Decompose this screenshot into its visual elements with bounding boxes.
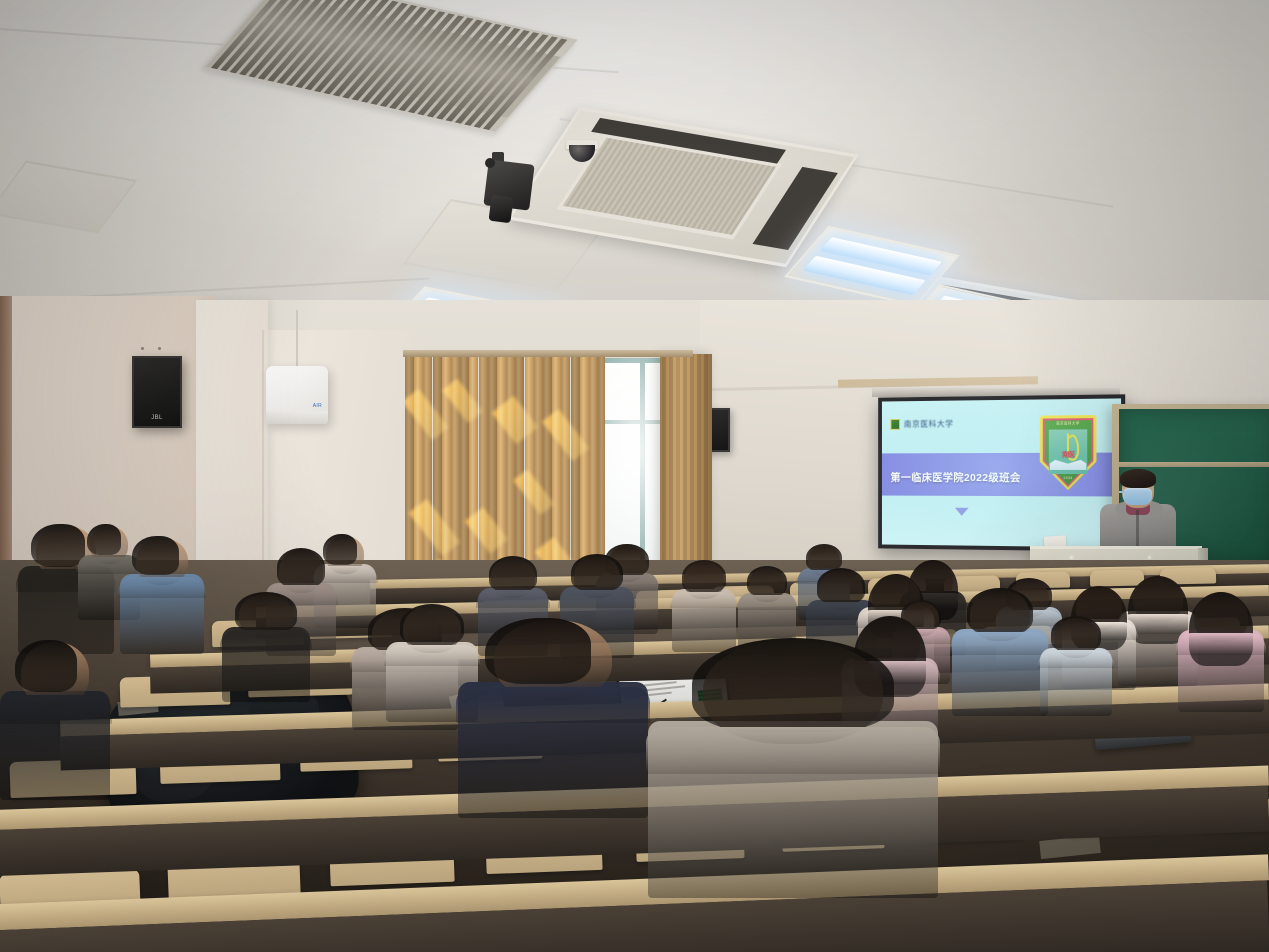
slide-arrow-icon <box>955 508 969 516</box>
student-hair <box>692 638 893 732</box>
school-emblem-icon: 南京医科大学 南医 1934 <box>1040 415 1097 490</box>
curtain-fold <box>405 350 414 595</box>
purifier-cable <box>296 310 298 368</box>
slide-title: 第一临床医学院2022级班会 <box>890 470 1020 485</box>
face-mask-icon <box>1123 488 1152 505</box>
student-hair <box>485 618 591 684</box>
student-hair <box>1051 616 1101 652</box>
wall-air-purifier: AIR <box>266 366 328 424</box>
student-hair <box>15 640 76 692</box>
curtain-rod <box>403 350 693 357</box>
purifier-label: AIR <box>313 403 322 409</box>
student-shoulders <box>670 592 738 609</box>
student <box>1040 616 1112 716</box>
student-hair <box>277 548 326 587</box>
emblem-arc-text: 南京医科大学 <box>1049 420 1087 429</box>
student <box>222 592 310 702</box>
student-shoulders <box>950 632 1050 655</box>
university-name: 南京医科大学 <box>904 418 954 429</box>
wall-screw <box>141 347 144 350</box>
student-shoulders <box>220 630 312 650</box>
student-shoulders <box>1176 633 1266 655</box>
curtain-fold <box>423 350 432 595</box>
student-hair <box>132 536 179 575</box>
student <box>1178 592 1264 712</box>
student-shoulders <box>646 727 940 774</box>
emblem-year: 1934 <box>1040 476 1097 480</box>
university-mark-icon <box>890 419 900 430</box>
student-hair <box>747 566 787 596</box>
student-shoulders <box>1038 650 1114 668</box>
lecture-hall-photo: JBL AIR 南京医科大学 第一临床医学院2022级班会 南京医科大学 <box>0 0 1269 952</box>
student-hair <box>967 588 1034 634</box>
student-hair <box>571 554 622 591</box>
student-hair <box>682 560 726 593</box>
emblem-center-chars: 南医 <box>1040 450 1097 460</box>
student-shoulders <box>456 687 650 723</box>
student-hair <box>489 556 538 592</box>
surveillance-camera-icon <box>480 152 534 224</box>
speaker-brand-label: JBL <box>151 415 163 421</box>
student-shoulders <box>558 590 636 609</box>
student <box>458 618 648 818</box>
student-hair <box>31 524 85 567</box>
curtain-fold <box>414 350 423 595</box>
student <box>0 640 110 800</box>
wall-screw <box>158 347 161 350</box>
dome-camera-icon <box>566 140 598 162</box>
student <box>952 588 1048 716</box>
student-shoulders <box>0 695 112 724</box>
student-hair <box>87 524 122 555</box>
student-shoulders <box>118 577 206 598</box>
presentation-slide: 南京医科大学 第一临床医学院2022级班会 南京医科大学 南医 1934 <box>882 398 1121 547</box>
student <box>120 536 204 654</box>
student-shoulders <box>736 595 798 610</box>
projection-screen: 南京医科大学 第一临床医学院2022级班会 南京医科大学 南医 1934 <box>878 394 1125 551</box>
student-hair <box>1189 592 1253 666</box>
university-logo: 南京医科大学 <box>890 418 953 429</box>
wall-speaker-left: JBL <box>132 356 182 428</box>
student-hair <box>235 592 296 632</box>
student <box>648 638 938 898</box>
student-shoulders <box>476 590 550 608</box>
student-hair <box>400 604 464 646</box>
